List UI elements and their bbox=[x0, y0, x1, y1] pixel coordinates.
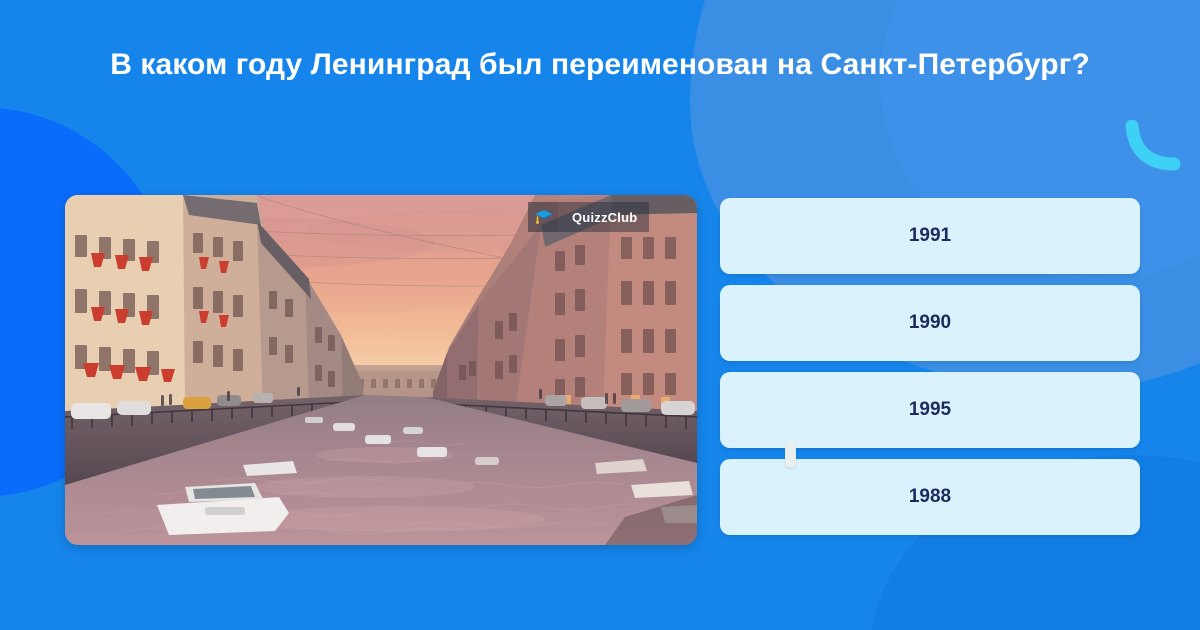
answer-option-1[interactable]: 1991 bbox=[720, 198, 1140, 274]
question-image: QuizzClub bbox=[65, 195, 697, 545]
question-title: В каком году Ленинград был переименован … bbox=[0, 44, 1200, 86]
answer-option-1-label: 1991 bbox=[909, 225, 951, 247]
answer-option-2[interactable]: 1990 bbox=[720, 285, 1140, 361]
answer-option-3[interactable]: 1995 bbox=[720, 372, 1140, 448]
answer-option-3-label: 1995 bbox=[909, 399, 951, 421]
saint-petersburg-canal-photo bbox=[65, 195, 697, 545]
cyan-arc-icon bbox=[1124, 120, 1182, 174]
quizzclub-brand-label: QuizzClub bbox=[558, 202, 649, 232]
graduation-cap-icon bbox=[528, 202, 558, 232]
answer-options-list: 1991 1990 1995 1988 bbox=[720, 198, 1140, 535]
answer-option-2-label: 1990 bbox=[909, 312, 951, 334]
answer-option-4[interactable]: 1988 bbox=[720, 459, 1140, 535]
answer-option-4-label: 1988 bbox=[909, 486, 951, 508]
quizzclub-watermark: QuizzClub bbox=[528, 202, 649, 232]
scroll-handle-nub[interactable] bbox=[785, 442, 796, 468]
